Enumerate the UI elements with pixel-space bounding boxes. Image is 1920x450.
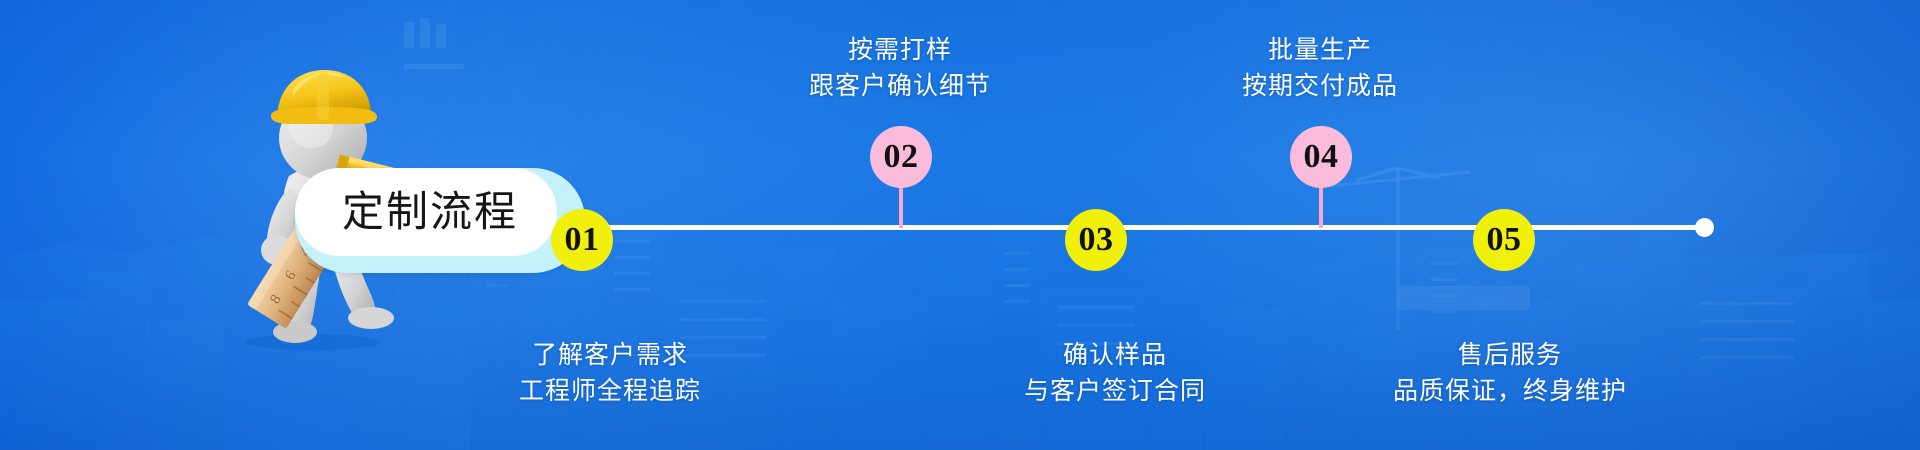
step-caption: 按需打样 跟客户确认细节	[800, 33, 1000, 104]
step-number-badge[interactable]: 01	[551, 209, 613, 271]
step-caption-line2: 品质保证，终身维护	[1385, 374, 1635, 410]
step-number-badge[interactable]: 04	[1290, 126, 1352, 188]
step-caption-line2: 与客户签订合同	[1000, 374, 1230, 410]
section-title-pill-inner: 定制流程	[295, 168, 557, 256]
step-caption-line2: 跟客户确认细节	[800, 69, 1000, 105]
step-number-badge[interactable]: 03	[1065, 209, 1127, 271]
custom-process-banner: 8 6 4 3 0 定制流程 01	[0, 0, 1920, 450]
step-stem	[899, 182, 903, 228]
step-caption-line1: 售后服务	[1385, 338, 1635, 374]
step-caption-line1: 了解客户需求	[500, 338, 720, 374]
section-title-pill: 定制流程	[295, 168, 585, 273]
step-caption-line2: 按期交付成品	[1220, 69, 1420, 105]
page-title: 定制流程	[334, 191, 518, 233]
step-caption-line1: 按需打样	[800, 33, 1000, 69]
step-caption: 售后服务 品质保证，终身维护	[1385, 338, 1635, 409]
step-caption-line1: 批量生产	[1220, 33, 1420, 69]
step-number-badge[interactable]: 05	[1473, 209, 1535, 271]
timeline-end-dot	[1695, 218, 1714, 237]
step-caption-line1: 确认样品	[1000, 338, 1230, 374]
step-caption: 了解客户需求 工程师全程追踪	[500, 338, 720, 409]
step-caption: 确认样品 与客户签订合同	[1000, 338, 1230, 409]
step-caption: 批量生产 按期交付成品	[1220, 33, 1420, 104]
step-number-badge[interactable]: 02	[870, 126, 932, 188]
step-stem	[1319, 182, 1323, 228]
step-caption-line2: 工程师全程追踪	[500, 374, 720, 410]
